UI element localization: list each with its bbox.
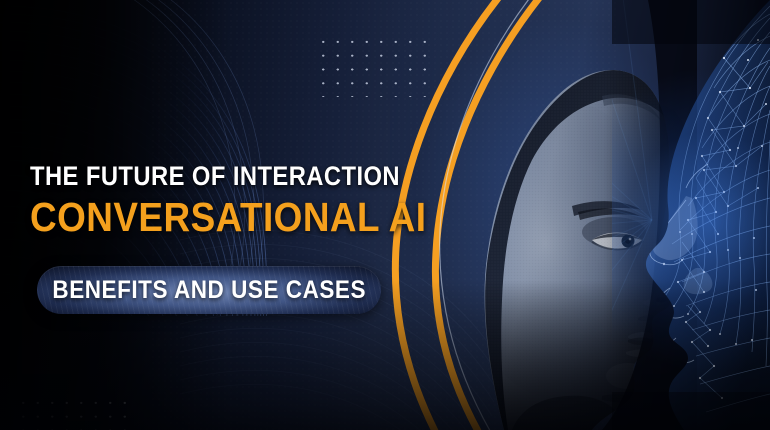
- kicker-text: THE FUTURE OF INTERACTION: [30, 162, 382, 191]
- badge-label: BENEFITS AND USE CASES: [52, 276, 366, 305]
- subtitle-badge: BENEFITS AND USE CASES: [37, 266, 381, 314]
- headline-block: THE FUTURE OF INTERACTION CONVERSATIONAL…: [30, 162, 430, 239]
- headline-text: CONVERSATIONAL AI: [30, 195, 390, 239]
- hero-banner: THE FUTURE OF INTERACTION CONVERSATIONAL…: [0, 0, 770, 430]
